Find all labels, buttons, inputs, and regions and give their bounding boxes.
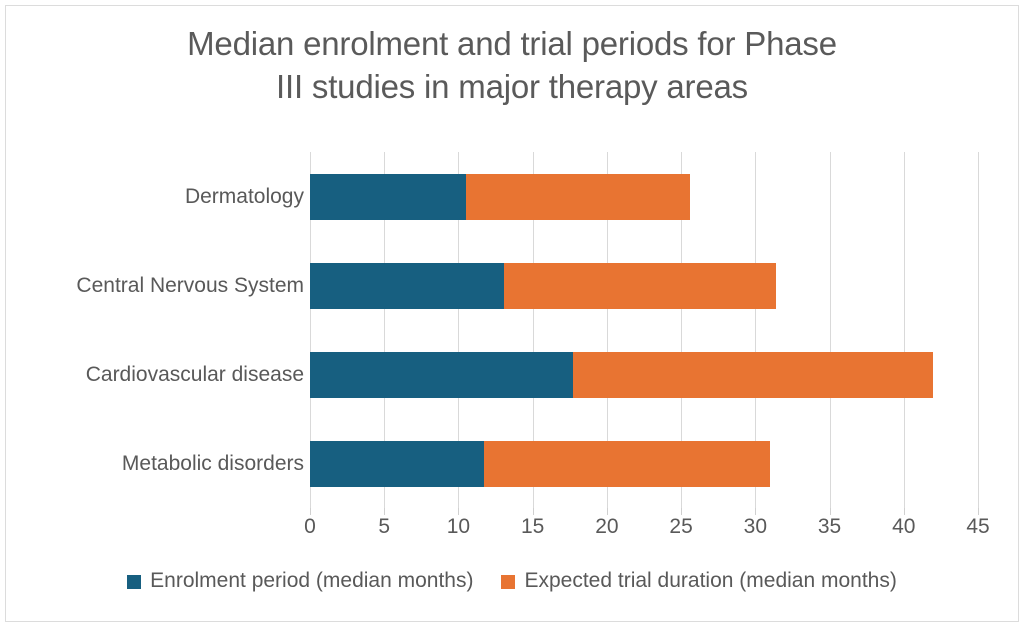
legend-swatch-icon bbox=[127, 575, 141, 589]
x-axis-tick-label: 40 bbox=[874, 514, 934, 540]
bar-segment[interactable] bbox=[310, 263, 504, 309]
category-label: Dermatology bbox=[4, 184, 304, 210]
legend-label: Enrolment period (median months) bbox=[150, 568, 473, 594]
bar-segment[interactable] bbox=[484, 441, 770, 487]
x-axis-tick-label: 0 bbox=[280, 514, 340, 540]
x-axis-tick-label: 5 bbox=[354, 514, 414, 540]
stacked-bar[interactable] bbox=[310, 263, 776, 309]
plot-area: DermatologyCentral Nervous SystemCardiov… bbox=[310, 152, 978, 508]
legend-item[interactable]: Expected trial duration (median months) bbox=[501, 568, 896, 594]
chart-title: Median enrolment and trial periods for P… bbox=[60, 22, 964, 108]
stacked-bar[interactable] bbox=[310, 174, 690, 220]
bar-segment[interactable] bbox=[466, 174, 690, 220]
category-label: Cardiovascular disease bbox=[4, 362, 304, 388]
chart-legend: Enrolment period (median months)Expected… bbox=[0, 568, 1024, 594]
bar-segment[interactable] bbox=[310, 352, 573, 398]
chart-category-row: Central Nervous System bbox=[310, 241, 978, 330]
bar-segment[interactable] bbox=[573, 352, 934, 398]
x-axis-tick-label: 45 bbox=[948, 514, 1008, 540]
x-axis-tick-label: 30 bbox=[725, 514, 785, 540]
category-label: Metabolic disorders bbox=[4, 451, 304, 477]
bar-segment[interactable] bbox=[504, 263, 776, 309]
x-axis-tick-label: 20 bbox=[577, 514, 637, 540]
legend-label: Expected trial duration (median months) bbox=[524, 568, 896, 594]
bar-segment[interactable] bbox=[310, 174, 466, 220]
x-axis-tick-label: 15 bbox=[503, 514, 563, 540]
chart-category-row: Dermatology bbox=[310, 152, 978, 241]
stacked-bar[interactable] bbox=[310, 441, 770, 487]
category-label: Central Nervous System bbox=[4, 273, 304, 299]
gridline bbox=[978, 152, 979, 508]
x-axis-tick-label: 25 bbox=[651, 514, 711, 540]
chart-category-row: Metabolic disorders bbox=[310, 419, 978, 508]
legend-item[interactable]: Enrolment period (median months) bbox=[127, 568, 473, 594]
stacked-bar[interactable] bbox=[310, 352, 933, 398]
x-axis-tick-label: 10 bbox=[428, 514, 488, 540]
legend-swatch-icon bbox=[501, 575, 515, 589]
chart-container: Median enrolment and trial periods for P… bbox=[0, 0, 1024, 627]
bar-segment[interactable] bbox=[310, 441, 484, 487]
x-axis-tick-label: 35 bbox=[800, 514, 860, 540]
chart-category-row: Cardiovascular disease bbox=[310, 330, 978, 419]
